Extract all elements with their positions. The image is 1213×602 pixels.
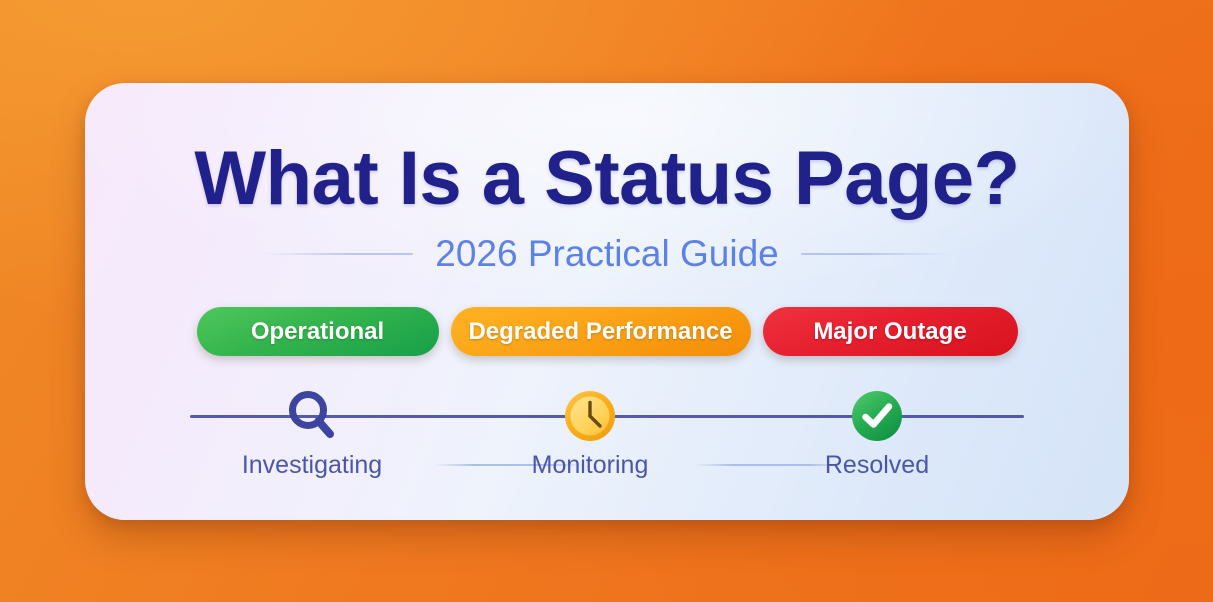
status-badge-operational[interactable]: Operational <box>197 307 439 356</box>
timeline-step-resolved[interactable]: Resolved <box>802 383 952 480</box>
subtitle-rule-right <box>801 253 951 255</box>
status-badge-major-outage[interactable]: Major Outage <box>763 307 1018 356</box>
status-page-card: What Is a Status Page? 2026 Practical Gu… <box>85 83 1129 520</box>
check-circle-icon <box>802 383 952 449</box>
poster-background: What Is a Status Page? 2026 Practical Gu… <box>0 0 1213 602</box>
page-subtitle: 2026 Practical Guide <box>435 233 778 275</box>
timeline-step-label: Investigating <box>237 451 387 480</box>
status-pill-row: Operational Degraded Performance Major O… <box>85 307 1129 356</box>
timeline-step-monitoring[interactable]: Monitoring <box>515 383 665 480</box>
subtitle-row: 2026 Practical Guide <box>85 233 1129 275</box>
timeline-step-investigating[interactable]: Investigating <box>237 383 387 480</box>
incident-timeline: Investigating <box>190 383 1024 483</box>
status-badge-degraded-performance[interactable]: Degraded Performance <box>451 307 751 356</box>
clock-icon <box>515 383 665 449</box>
timeline-step-label: Monitoring <box>515 451 665 480</box>
page-title: What Is a Status Page? <box>85 135 1129 222</box>
magnifier-icon <box>237 383 387 449</box>
timeline-step-label: Resolved <box>802 451 952 480</box>
subtitle-rule-left <box>263 253 413 255</box>
